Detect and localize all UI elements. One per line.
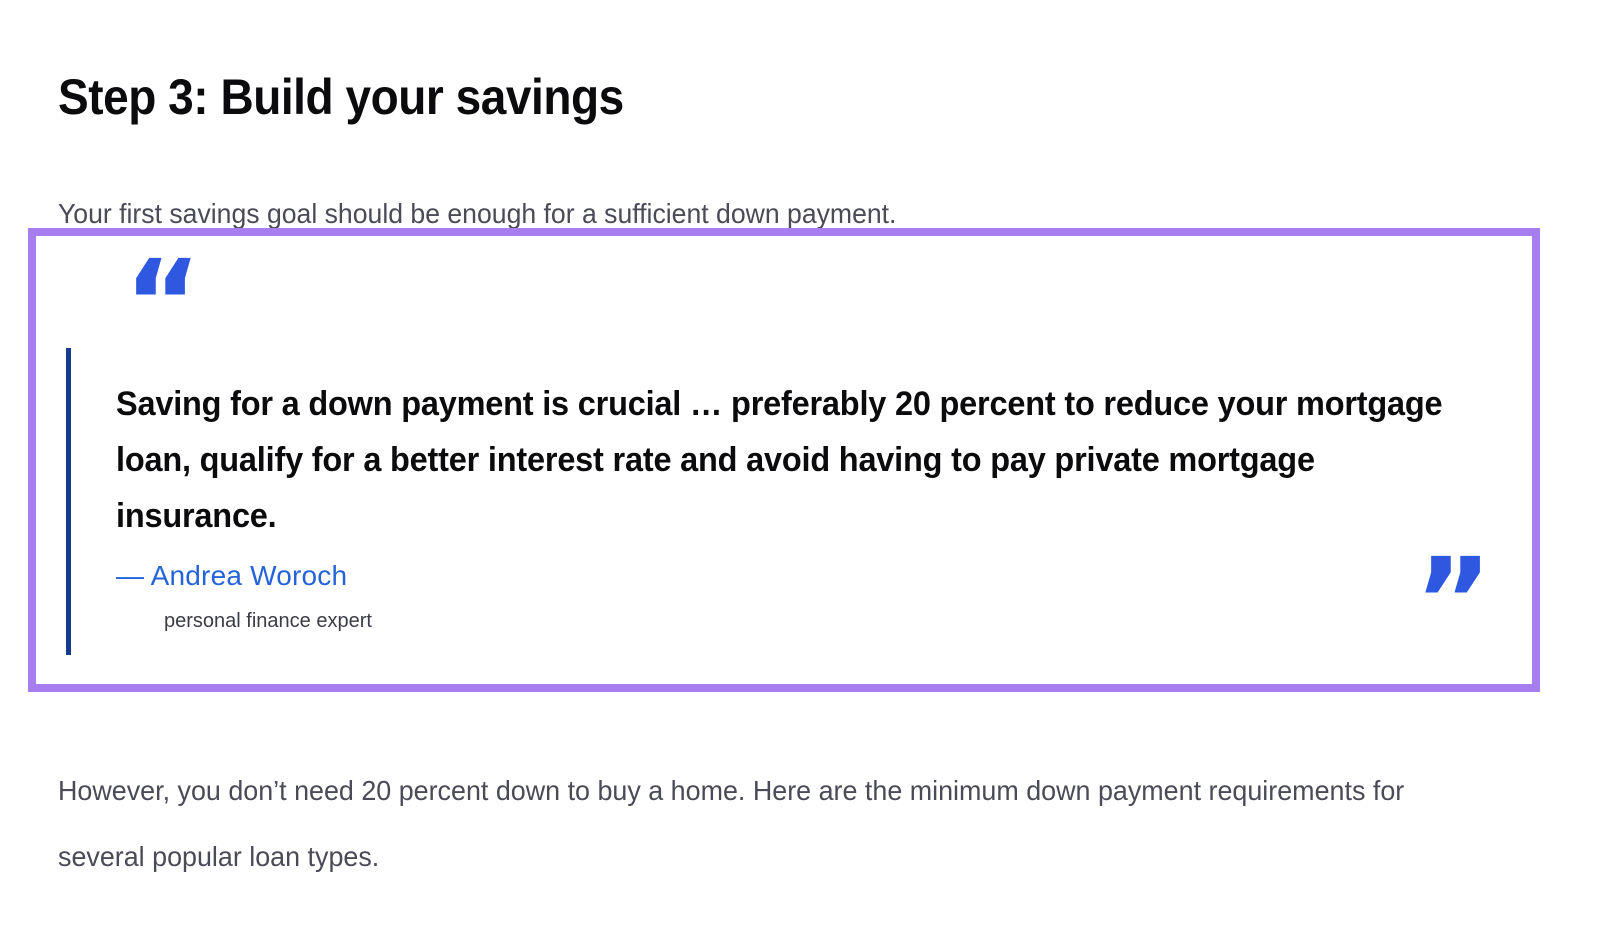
quote-body-block: Saving for a down payment is crucial … p… <box>116 376 1516 634</box>
close-quote-icon: ” <box>1414 542 1486 660</box>
open-quote-icon: “ <box>124 244 196 362</box>
article-section: Step 3: Build your savings Your first sa… <box>0 0 1600 925</box>
quote-attribution: — Andrea Woroch <box>116 558 1516 594</box>
quote-text: Saving for a down payment is crucial … p… <box>116 376 1453 544</box>
page-title: Step 3: Build your savings <box>58 68 624 126</box>
pullquote-card: “ Saving for a down payment is crucial …… <box>28 228 1540 692</box>
pullquote-inner: “ Saving for a down payment is crucial …… <box>36 236 1532 684</box>
quote-accent-bar <box>66 348 71 655</box>
quote-attribution-role: personal finance expert <box>164 608 1516 634</box>
closing-paragraph: However, you don’t need 20 percent down … <box>58 758 1469 890</box>
